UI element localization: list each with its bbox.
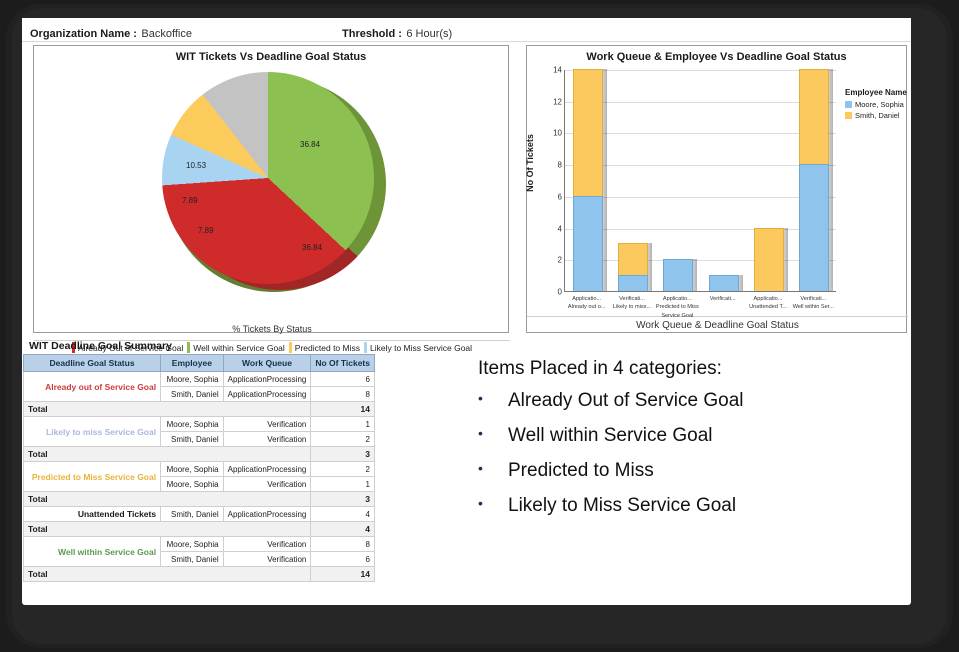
y-axis-tick-label: 2 (558, 256, 562, 265)
callout-item-label: Likely to Miss Service Goal (508, 495, 736, 517)
bar-legend-label: Smith, Daniel (855, 111, 900, 120)
cell-work-queue: Verification (223, 552, 311, 567)
pie-data-label: 36.84 (302, 243, 322, 252)
pie-axis-label: % Tickets By Status (34, 324, 510, 334)
bar-column[interactable] (663, 259, 693, 291)
y-axis-tick-label: 8 (558, 161, 562, 170)
table-header-row: Deadline Goal Status Employee Work Queue… (24, 355, 375, 372)
bar-legend-item[interactable]: Moore, Sophia (845, 100, 907, 109)
cell-total-value: 4 (311, 522, 375, 537)
pie-chart-title: WIT Tickets Vs Deadline Goal Status (34, 51, 508, 63)
organization-name-value: Backoffice (141, 28, 192, 40)
x-axis-label-line1: Verificati... (786, 295, 840, 303)
callout-list: •Already Out of Service Goal•Well within… (474, 390, 894, 517)
cell-employee: Moore, Sophia (161, 477, 224, 492)
bar-column[interactable] (799, 69, 829, 291)
callout-item-label: Already Out of Service Goal (508, 390, 744, 412)
bar-segment-moore-sophia[interactable] (799, 164, 829, 291)
bar-chart-title: Work Queue & Employee Vs Deadline Goal S… (527, 51, 906, 63)
table-total-row: Total3 (24, 492, 375, 507)
cell-deadline-goal-status: Likely to miss Service Goal (24, 417, 161, 447)
bar-3d-side (603, 69, 607, 291)
x-axis-label-line2: Predicted to Miss Service Goal (650, 303, 704, 320)
bar-3d-side (693, 259, 697, 291)
bullet-dot-icon: • (474, 390, 508, 406)
cell-employee: Moore, Sophia (161, 537, 224, 552)
cell-total-value: 3 (311, 492, 375, 507)
callout-list-item: •Already Out of Service Goal (474, 390, 894, 412)
cell-deadline-goal-status: Unattended Tickets (24, 507, 161, 522)
callout-list-item: •Well within Service Goal (474, 425, 894, 447)
table-row[interactable]: Well within Service GoalMoore, SophiaVer… (24, 537, 375, 552)
cell-work-queue: Verification (223, 477, 311, 492)
bar-legend-item[interactable]: Smith, Daniel (845, 111, 907, 120)
bar-3d-side (648, 243, 652, 291)
cell-total-label: Total (24, 567, 311, 582)
column-header-work-queue[interactable]: Work Queue (223, 355, 311, 372)
pie-data-label: 36.84 (300, 140, 320, 149)
column-header-deadline-goal-status[interactable]: Deadline Goal Status (24, 355, 161, 372)
cell-employee: Smith, Daniel (161, 432, 224, 447)
cell-employee: Smith, Daniel (161, 552, 224, 567)
cell-deadline-goal-status: Well within Service Goal (24, 537, 161, 567)
bar-legend-label: Moore, Sophia (855, 100, 904, 109)
bar-segment-smith-daniel[interactable] (573, 69, 603, 196)
bar-legend-title: Employee Name (845, 88, 907, 97)
callout-list-item: •Likely to Miss Service Goal (474, 495, 894, 517)
x-axis-tick-label: Verificati...Well within Ser... (786, 295, 840, 312)
cell-no-of-tickets: 1 (311, 477, 375, 492)
y-axis-tick-label: 10 (553, 129, 562, 138)
pie-legend-item[interactable]: Likely to Miss Service Goal (364, 342, 472, 353)
organization-name-label: Organization Name : (30, 28, 137, 40)
cell-employee: Moore, Sophia (161, 372, 224, 387)
cell-employee: Moore, Sophia (161, 462, 224, 477)
pie-data-label: 7.89 (198, 226, 214, 235)
bar-3d-side (784, 228, 788, 291)
x-axis-label-line2: Well within Ser... (786, 303, 840, 311)
table-row[interactable]: Already out of Service GoalMoore, Sophia… (24, 372, 375, 387)
summary-table: Deadline Goal Status Employee Work Queue… (23, 354, 375, 582)
bar-segment-moore-sophia[interactable] (573, 196, 603, 291)
cell-no-of-tickets: 4 (311, 507, 375, 522)
callout-item-label: Well within Service Goal (508, 425, 713, 447)
cell-work-queue: Verification (223, 537, 311, 552)
bar-segment-moore-sophia[interactable] (618, 275, 648, 291)
cell-total-label: Total (24, 447, 311, 462)
bar-segment-smith-daniel[interactable] (618, 243, 648, 275)
y-axis-tick-label: 4 (558, 224, 562, 233)
summary-table-title: WIT Deadline Goal Summary (29, 340, 375, 352)
bar-column[interactable] (573, 69, 603, 291)
cell-no-of-tickets: 6 (311, 552, 375, 567)
cell-work-queue: ApplicationProcessing (223, 387, 311, 402)
bar-column[interactable] (618, 243, 648, 291)
callout-heading: Items Placed in 4 categories: (478, 358, 894, 380)
bar-segment-smith-daniel[interactable] (799, 69, 829, 164)
pie-chart-panel: WIT Tickets Vs Deadline Goal Status 36.8… (33, 45, 509, 333)
bar-segment-moore-sophia[interactable] (709, 275, 739, 291)
report-header: Organization Name : Backoffice Threshold… (22, 18, 911, 42)
bar-segment-moore-sophia[interactable] (663, 259, 693, 291)
y-axis-tick-label: 14 (553, 66, 562, 75)
pie-chart-plot: 36.84 36.84 7.89 7.89 10.53 % Tickets By… (34, 68, 510, 298)
cell-no-of-tickets: 2 (311, 432, 375, 447)
cell-no-of-tickets: 1 (311, 417, 375, 432)
threshold-label: Threshold : (342, 28, 402, 40)
cell-work-queue: Verification (223, 417, 311, 432)
legend-swatch-icon (845, 112, 852, 119)
callout-list-item: •Predicted to Miss (474, 460, 894, 482)
table-total-row: Total14 (24, 567, 375, 582)
column-header-employee[interactable]: Employee (161, 355, 224, 372)
cell-no-of-tickets: 8 (311, 537, 375, 552)
threshold-value: 6 Hour(s) (406, 28, 452, 40)
bar-3d-side (739, 275, 743, 291)
bullet-dot-icon: • (474, 460, 508, 476)
cell-work-queue: ApplicationProcessing (223, 507, 311, 522)
cell-employee: Smith, Daniel (161, 387, 224, 402)
table-total-row: Total14 (24, 402, 375, 417)
table-row[interactable]: Likely to miss Service GoalMoore, Sophia… (24, 417, 375, 432)
column-header-no-of-tickets[interactable]: No Of Tickets (311, 355, 375, 372)
bar-column[interactable] (754, 228, 784, 291)
table-total-row: Total4 (24, 522, 375, 537)
legend-swatch-icon (845, 101, 852, 108)
bar-3d-side (829, 69, 833, 291)
bullet-dot-icon: • (474, 425, 508, 441)
table-row[interactable]: Predicted to Miss Service GoalMoore, Sop… (24, 462, 375, 477)
cell-total-label: Total (24, 402, 311, 417)
callout-block: Items Placed in 4 categories: •Already O… (474, 358, 894, 530)
threshold-field: Threshold : 6 Hour(s) (342, 24, 452, 42)
cell-work-queue: ApplicationProcessing (223, 372, 311, 387)
organization-name-field: Organization Name : Backoffice (30, 24, 192, 42)
pie-data-label: 7.89 (182, 196, 198, 205)
bullet-dot-icon: • (474, 495, 508, 511)
cell-total-label: Total (24, 522, 311, 537)
cell-deadline-goal-status: Predicted to Miss Service Goal (24, 462, 161, 492)
cell-employee: Smith, Daniel (161, 507, 224, 522)
cell-no-of-tickets: 6 (311, 372, 375, 387)
bar-chart-plot: 02468101214 (564, 70, 836, 292)
callout-item-label: Predicted to Miss (508, 460, 654, 482)
table-row[interactable]: Unattended TicketsSmith, DanielApplicati… (24, 507, 375, 522)
pie-slices[interactable] (162, 72, 374, 284)
table-total-row: Total3 (24, 447, 375, 462)
y-axis-tick-label: 12 (553, 97, 562, 106)
y-axis-tick-label: 6 (558, 192, 562, 201)
bar-chart-panel: Work Queue & Employee Vs Deadline Goal S… (526, 45, 907, 333)
bar-column[interactable] (709, 275, 739, 291)
cell-work-queue: Verification (223, 432, 311, 447)
bar-chart-legend: Employee Name Moore, Sophia Smith, Danie… (845, 88, 907, 122)
cell-total-value: 14 (311, 402, 375, 417)
report-page: Organization Name : Backoffice Threshold… (22, 18, 911, 605)
summary-table-container: WIT Deadline Goal Summary Deadline Goal … (23, 340, 375, 582)
cell-no-of-tickets: 2 (311, 462, 375, 477)
summary-table-body: Already out of Service GoalMoore, Sophia… (24, 372, 375, 582)
cell-total-label: Total (24, 492, 311, 507)
cell-total-value: 3 (311, 447, 375, 462)
pie-legend-label: Likely to Miss Service Goal (370, 343, 472, 353)
bar-segment-smith-daniel[interactable] (754, 228, 784, 291)
cell-work-queue: ApplicationProcessing (223, 462, 311, 477)
cell-total-value: 14 (311, 567, 375, 582)
cell-employee: Moore, Sophia (161, 417, 224, 432)
cell-no-of-tickets: 8 (311, 387, 375, 402)
cell-deadline-goal-status: Already out of Service Goal (24, 372, 161, 402)
bar-chart-y-axis-title: No Of Tickets (525, 134, 535, 192)
pie-data-label: 10.53 (186, 161, 206, 170)
bar-chart-x-axis-title: Work Queue & Deadline Goal Status (527, 316, 908, 331)
